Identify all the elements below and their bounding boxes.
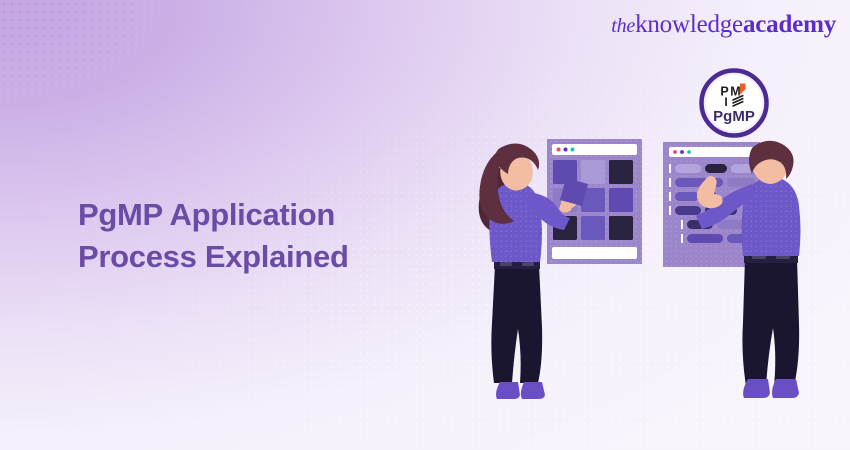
woman-placing-note — [479, 143, 588, 399]
brand-logo[interactable]: theknowledgeacademy — [611, 12, 836, 37]
board-dot-teal — [571, 148, 575, 152]
board-dot-purple — [680, 150, 684, 154]
logo-part-knowledge: knowledge — [635, 11, 743, 38]
board-dot-pink — [557, 148, 561, 152]
board-dot-pink — [673, 150, 677, 154]
pgmp-certification-badge: P M I PgMP — [697, 66, 771, 140]
board-dot-purple — [564, 148, 568, 152]
badge-label: PgMP — [713, 108, 755, 125]
board-dot-teal — [687, 150, 691, 154]
logo-part-the: the — [611, 15, 635, 37]
page-title: PgMP Application Process Explained — [78, 194, 349, 277]
logo-part-academy: academy — [743, 11, 836, 38]
banner-root: P M I PgMP theknowledgeacademy PgMP Appl… — [0, 0, 850, 450]
svg-text:I: I — [724, 95, 727, 109]
